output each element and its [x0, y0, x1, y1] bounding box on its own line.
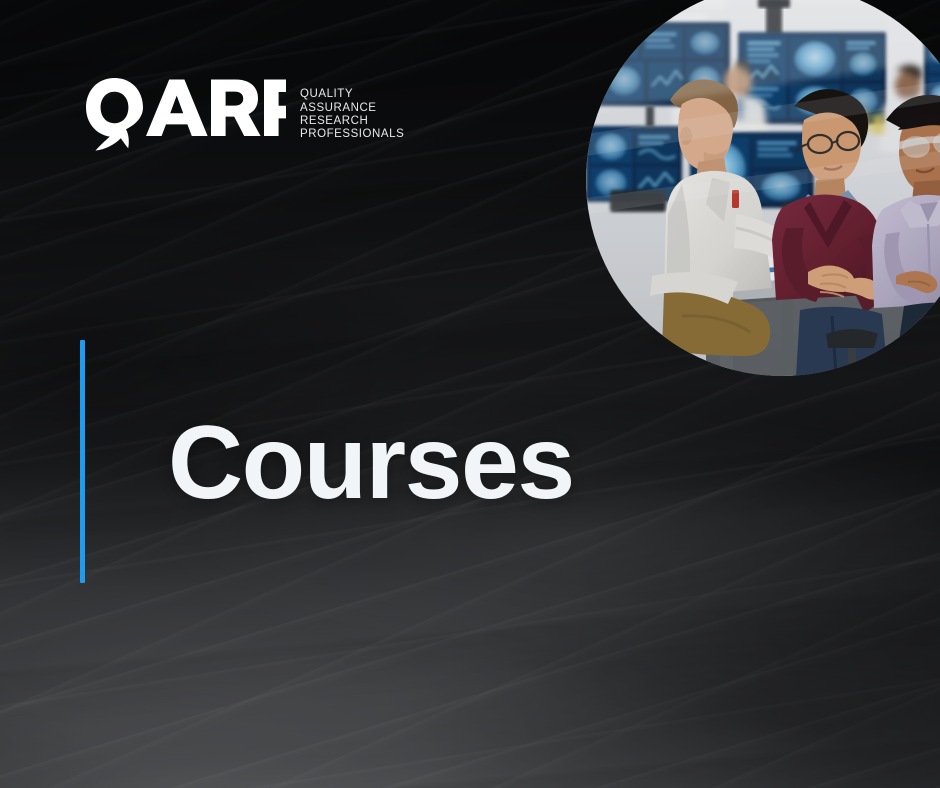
- tagline-line-3: RESEARCH: [300, 115, 404, 128]
- tagline-line-4: PROFESSIONALS: [300, 128, 404, 141]
- tagline-line-2: ASSURANCE: [300, 102, 404, 115]
- qarp-logo[interactable]: QUALITY ASSURANCE RESEARCH PROFESSIONALS: [80, 72, 404, 154]
- logo-tagline: QUALITY ASSURANCE RESEARCH PROFESSIONALS: [300, 88, 404, 142]
- page-title: Courses: [168, 409, 574, 517]
- vertical-accent-bar: [80, 340, 85, 583]
- qarp-wordmark-icon: [80, 72, 286, 154]
- title-slide: QUALITY ASSURANCE RESEARCH PROFESSIONALS…: [0, 0, 940, 788]
- lab-team-photo: [586, 0, 940, 376]
- tagline-line-1: QUALITY: [300, 88, 404, 101]
- hero-photo-circle: [586, 0, 940, 376]
